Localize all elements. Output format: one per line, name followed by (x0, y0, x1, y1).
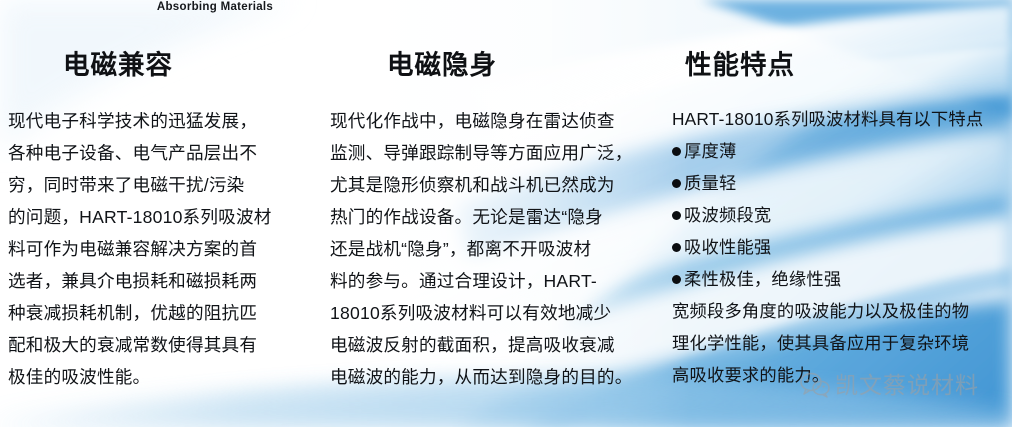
feature-bullet-label: 厚度薄 (684, 141, 736, 161)
body-line: 配和极大的衰减常数使得其具有 (8, 329, 308, 361)
column-body-features: HART-18010系列吸波材料具有以下特点 厚度薄 质量轻 吸波频段宽 吸收性… (672, 103, 1012, 391)
feature-bullet-label: 吸收性能强 (684, 237, 771, 257)
body-line: 穷，同时带来了电磁干扰/污染 (8, 169, 308, 201)
column-title-emc: 电磁兼容 (63, 52, 308, 79)
bullet-dot-icon (672, 211, 681, 220)
body-line: 电磁波反射的截面积，提高吸收衰减 (330, 329, 645, 361)
body-line: 的问题，HART-18010系列吸波材 (8, 201, 308, 233)
bullet-dot-icon (672, 275, 681, 284)
column-body-emc: 现代电子科学技术的迅猛发展， 各种电子设备、电气产品层出不 穷，同时带来了电磁干… (8, 105, 308, 393)
body-line: 料的参与。通过合理设计，HART- (330, 265, 645, 297)
header-label: Absorbing Materials (0, 1, 430, 13)
column-emc: 电磁兼容 现代电子科学技术的迅猛发展， 各种电子设备、电气产品层出不 穷，同时带… (8, 52, 308, 393)
body-line: 还是战机“隐身”，都离不开吸波材 (330, 233, 645, 265)
feature-bullet-label: 柔性极佳，绝缘性强 (684, 269, 841, 289)
body-line: 尤其是隐形侦察机和战斗机已然成为 (330, 169, 645, 201)
bullet-dot-icon (672, 147, 681, 156)
column-title-features: 性能特点 (685, 52, 1012, 79)
body-line: 料可作为电磁兼容解决方案的首 (8, 233, 308, 265)
bullet-dot-icon (672, 179, 681, 188)
features-outro-line: 高吸收要求的能力。 (672, 359, 1012, 391)
body-line: 种衰减损耗机制，优越的阻抗匹 (8, 297, 308, 329)
body-line: 热门的作战设备。无论是雷达“隐身 (330, 201, 645, 233)
body-line: 监测、导弹跟踪制导等方面应用广泛， (330, 137, 645, 169)
body-line: 现代化作战中，电磁隐身在雷达侦查 (330, 105, 645, 137)
column-title-stealth: 电磁隐身 (387, 52, 645, 79)
column-body-stealth: 现代化作战中，电磁隐身在雷达侦查 监测、导弹跟踪制导等方面应用广泛， 尤其是隐形… (330, 105, 645, 393)
feature-bullet-item: 吸收性能强 (672, 231, 1012, 263)
features-outro-line: 宽频段多角度的吸波能力以及极佳的物 (672, 295, 1012, 327)
feature-bullet-label: 吸波频段宽 (684, 205, 771, 225)
body-line: 电磁波的能力，从而达到隐身的目的。 (330, 361, 645, 393)
slide-canvas: Absorbing Materials 电磁兼容 现代电子科学技术的迅猛发展， … (0, 0, 1012, 427)
body-line: 极佳的吸波性能。 (8, 361, 308, 393)
feature-bullet-item: 厚度薄 (672, 135, 1012, 167)
feature-bullet-item: 柔性极佳，绝缘性强 (672, 263, 1012, 295)
body-line: 现代电子科学技术的迅猛发展， (8, 105, 308, 137)
body-line: 18010系列吸波材料可以有效地减少 (330, 297, 645, 329)
features-outro-line: 理化学性能，使其具备应用于复杂环境 (672, 327, 1012, 359)
column-features: 性能特点 HART-18010系列吸波材料具有以下特点 厚度薄 质量轻 吸波频段… (672, 52, 1012, 391)
body-line: 各种电子设备、电气产品层出不 (8, 137, 308, 169)
feature-bullet-label: 质量轻 (684, 173, 736, 193)
bullet-dot-icon (672, 243, 681, 252)
feature-bullet-item: 吸波频段宽 (672, 199, 1012, 231)
column-stealth: 电磁隐身 现代化作战中，电磁隐身在雷达侦查 监测、导弹跟踪制导等方面应用广泛， … (330, 52, 645, 393)
features-intro: HART-18010系列吸波材料具有以下特点 (672, 103, 1012, 135)
feature-bullet-item: 质量轻 (672, 167, 1012, 199)
body-line: 选者，兼具介电损耗和磁损耗两 (8, 265, 308, 297)
